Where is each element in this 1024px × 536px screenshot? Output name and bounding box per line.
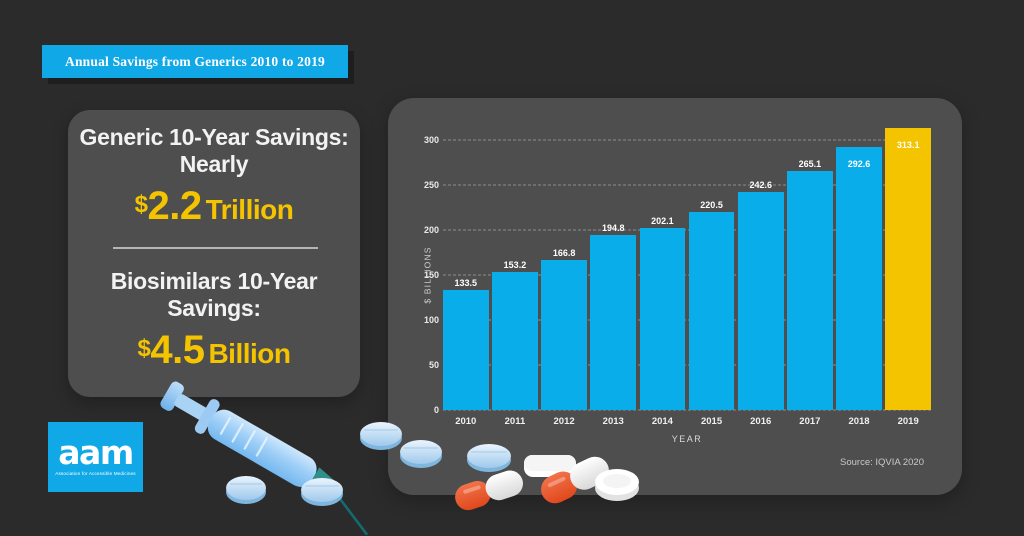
stat-unit: Trillion — [206, 194, 294, 225]
bar-value-label: 265.1 — [799, 159, 822, 169]
tablet-icon — [400, 440, 442, 468]
stat-biosimilars-headline: Biosimilars 10-Year Savings: — [78, 268, 350, 322]
x-axis-tick: 2017 — [787, 416, 833, 427]
bar[interactable] — [836, 147, 882, 410]
stat-generic-value: $2.2 Trillion — [78, 184, 350, 229]
bar-value-label: 133.5 — [455, 278, 478, 288]
stat-block-generic: Generic 10-Year Savings: Nearly $2.2 Tri… — [78, 124, 350, 229]
bar-value-label: 153.2 — [504, 260, 527, 270]
y-axis-tick: 50 — [413, 360, 439, 370]
x-axis-tick: 2019 — [885, 416, 931, 427]
currency-symbol: $ — [138, 335, 151, 362]
bar-value-label: 202.1 — [651, 216, 674, 226]
x-axis-tick: 2016 — [738, 416, 784, 427]
x-axis-tick: 2018 — [836, 416, 882, 427]
bar-value-label: 242.6 — [749, 180, 772, 190]
currency-symbol: $ — [135, 191, 148, 218]
y-axis-tick: 250 — [413, 180, 439, 190]
y-axis-tick: 200 — [413, 225, 439, 235]
bar-column[interactable]: 292.6 — [836, 140, 882, 410]
stats-divider — [113, 247, 318, 249]
round-pill-icon — [595, 469, 639, 501]
bar-column[interactable]: 313.1 — [885, 140, 931, 410]
capsule-icon — [452, 467, 527, 513]
bar-column[interactable]: 265.1 — [787, 140, 833, 410]
bar-value-label: 194.8 — [602, 223, 625, 233]
title-text: Annual Savings from Generics 2010 to 201… — [65, 54, 325, 70]
stat-block-biosimilars: Biosimilars 10-Year Savings: $4.5 Billio… — [78, 268, 350, 373]
bar-value-label: 292.6 — [848, 159, 871, 169]
stats-panel: Generic 10-Year Savings: Nearly $2.2 Tri… — [68, 110, 360, 397]
stat-unit: Billion — [208, 338, 290, 369]
stat-number: 2.2 — [148, 184, 202, 228]
infographic-root: Annual Savings from Generics 2010 to 201… — [0, 0, 1024, 536]
tablet-icon — [467, 444, 511, 472]
syringe-and-pills-illustration — [0, 370, 700, 536]
chart-source: Source: IQVIA 2020 — [840, 457, 924, 468]
tablet-icon — [360, 422, 402, 450]
bar[interactable] — [787, 171, 833, 410]
y-axis-tick: 100 — [413, 315, 439, 325]
tablet-icon — [301, 478, 343, 506]
tablet-icon — [226, 476, 266, 504]
title-banner: Annual Savings from Generics 2010 to 201… — [42, 45, 348, 78]
y-axis-tick: 150 — [413, 270, 439, 280]
bar[interactable] — [738, 192, 784, 410]
bar-value-label: 220.5 — [700, 200, 723, 210]
bar-column[interactable]: 242.6 — [738, 140, 784, 410]
bar-value-label: 166.8 — [553, 248, 576, 258]
y-axis-tick: 300 — [413, 135, 439, 145]
stat-number: 4.5 — [150, 328, 204, 372]
bar-value-label: 313.1 — [897, 140, 920, 150]
syringe-icon — [155, 376, 387, 534]
bar[interactable] — [885, 128, 931, 410]
stat-generic-headline: Generic 10-Year Savings: Nearly — [78, 124, 350, 178]
stat-biosimilars-value: $4.5 Billion — [78, 328, 350, 373]
